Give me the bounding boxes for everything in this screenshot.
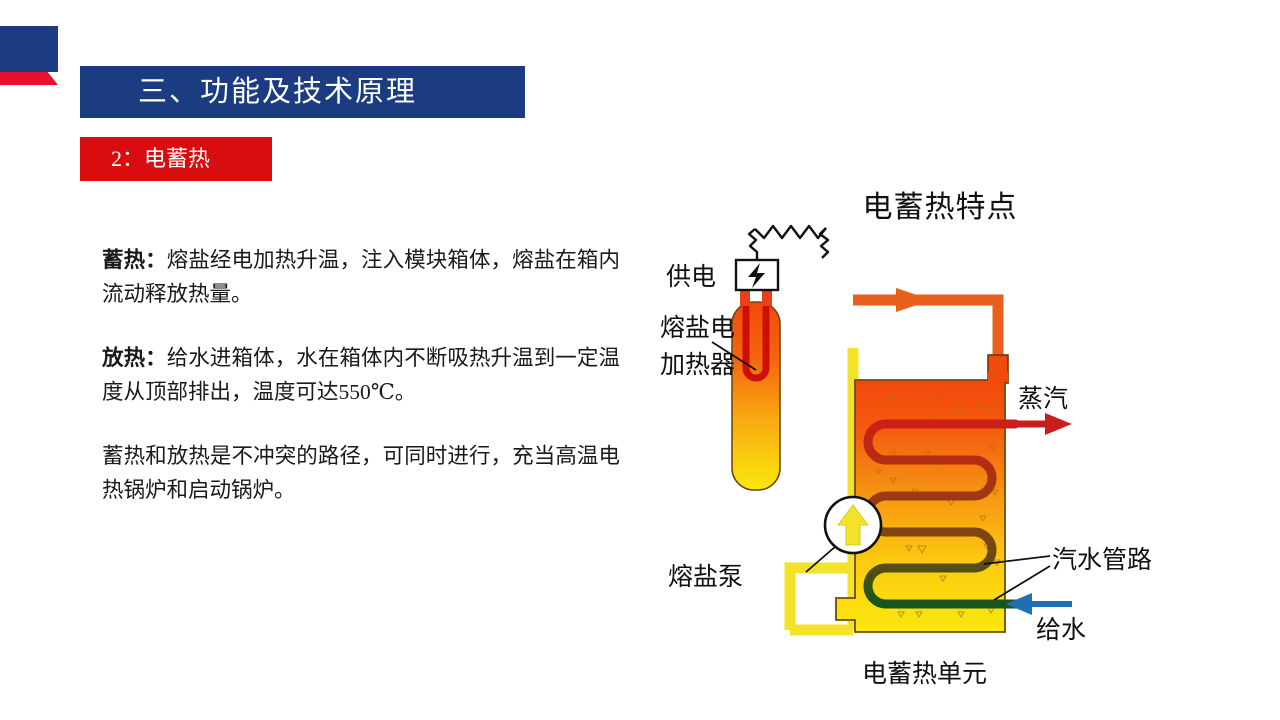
feedwater-inlet-arrow — [1006, 593, 1072, 615]
paragraph-body-summary: 蓄热和放热是不冲突的路径，可同时进行，充当高温电热锅炉和启动锅炉。 — [102, 444, 620, 502]
label-heater-line2: 加热器 — [660, 351, 735, 379]
label-steam-water-pipe: 汽水管路 — [1052, 546, 1152, 574]
molten-salt-pump — [825, 497, 881, 553]
label-feedwater: 给水 — [1036, 616, 1086, 644]
paragraph-lead-heat-release: 放热： — [102, 346, 167, 370]
steam-outlet-arrow — [1008, 413, 1072, 435]
power-box — [736, 260, 778, 290]
hot-salt-supply-pipe — [853, 288, 998, 378]
label-power-supply: 供电 — [666, 263, 716, 291]
label-steam: 蒸汽 — [1018, 385, 1068, 413]
slide-root: 三、功能及技术原理 2：电蓄热 蓄热：熔盐经电加热升温，注入模块箱体，熔盐在箱内… — [0, 0, 1280, 720]
section-title-text: 三、功能及技术原理 — [80, 78, 417, 107]
zigzag-wire-icon — [749, 226, 828, 260]
paragraph-heat-storage: 蓄热：熔盐经电加热升温，注入模块箱体，熔盐在箱内流动释放热量。 — [102, 243, 620, 311]
heater-shell — [732, 302, 780, 490]
section-title-bar: 三、功能及技术原理 — [80, 66, 525, 118]
molten-salt-electric-heater — [732, 288, 780, 490]
label-salt-pump: 熔盐泵 — [668, 563, 743, 591]
label-storage-unit: 电蓄热单元 — [862, 660, 987, 688]
paragraph-heat-release: 放热：给水进箱体，水在箱体内不断吸热升温到一定温度从顶部排出，温度可达550℃。 — [102, 341, 620, 409]
paragraph-lead-heat-storage: 蓄热： — [102, 248, 167, 272]
body-text-column: 蓄热：熔盐经电加热升温，注入模块箱体，熔盐在箱内流动释放热量。 放热：给水进箱体… — [102, 243, 620, 507]
hot-salt-flow-arrow — [896, 288, 932, 312]
subsection-badge: 2：电蓄热 — [80, 137, 272, 181]
electric-thermal-storage-diagram: 供电 熔盐电 加热器 熔盐泵 蒸汽 汽水管路 给水 电蓄热单元 — [640, 160, 1240, 705]
thermal-storage-tank — [836, 355, 1015, 632]
paragraph-body-heat-release: 给水进箱体，水在箱体内不断吸热升温到一定温度从顶部排出，温度可达550℃。 — [102, 346, 620, 404]
paragraph-summary: 蓄热和放热是不冲突的路径，可同时进行，充当高温电热锅炉和启动锅炉。 — [102, 439, 620, 507]
paragraph-body-heat-storage: 熔盐经电加热升温，注入模块箱体，熔盐在箱内流动释放热量。 — [102, 248, 620, 306]
label-heater-line1: 熔盐电 — [660, 314, 735, 342]
subsection-badge-text: 2：电蓄热 — [80, 148, 210, 170]
